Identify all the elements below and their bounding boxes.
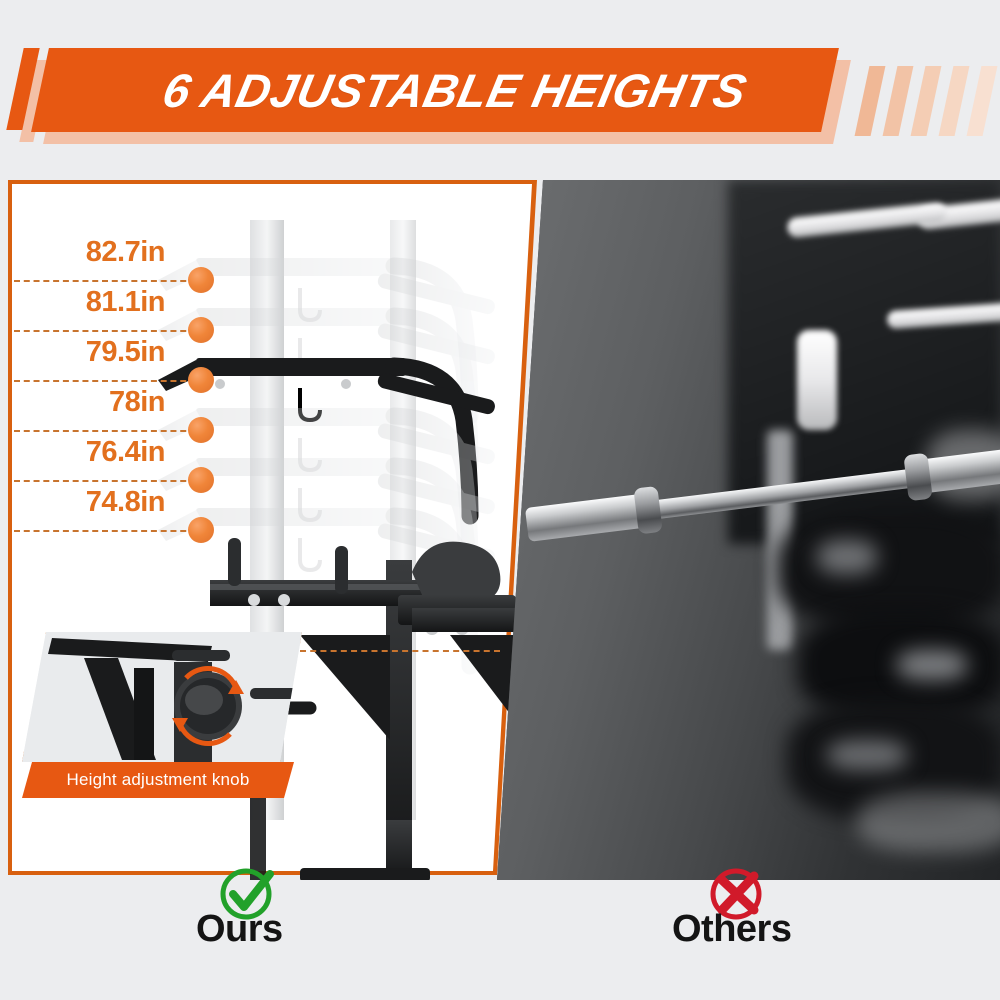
- height-marker-dot-1[interactable]: [188, 267, 214, 293]
- height-guide-line-2: [14, 330, 196, 332]
- knob-caption-text: Height adjustment knob: [66, 770, 249, 790]
- background-pillar: [797, 330, 837, 430]
- knob-caption: Height adjustment knob: [22, 762, 294, 798]
- height-guide-line-1: [14, 280, 196, 282]
- others-label: Others: [672, 908, 791, 951]
- header-tick-2: [883, 66, 914, 136]
- height-guide-line-4: [14, 430, 196, 432]
- dumbbell-highlight-1: [817, 540, 877, 574]
- header-tick-5: [967, 66, 998, 136]
- height-marker-dot-4[interactable]: [188, 417, 214, 443]
- ours-label: Ours: [196, 908, 283, 951]
- height-guide-line-6: [14, 530, 196, 532]
- header-tick-3: [911, 66, 942, 136]
- dumbbell-highlight-2: [897, 650, 967, 680]
- header-tick-4: [939, 66, 970, 136]
- height-guide-line-3: [14, 380, 196, 382]
- height-marker-dot-5[interactable]: [188, 467, 214, 493]
- header-tick-1: [855, 66, 886, 136]
- knob-closeup-illustration: [22, 632, 302, 762]
- floor-blur: [857, 792, 1000, 852]
- dumbbell-highlight-3: [827, 740, 907, 770]
- height-marker-dot-3[interactable]: [188, 367, 214, 393]
- infographic-canvas: 6 ADJUSTABLE HEIGHTS: [0, 0, 1000, 1000]
- header-banner: 6 ADJUSTABLE HEIGHTS: [0, 38, 1000, 138]
- others-photo: [497, 180, 1000, 880]
- barbell-collar-left: [633, 486, 662, 535]
- height-guide-line-5: [14, 480, 196, 482]
- height-marker-dot-6[interactable]: [188, 517, 214, 543]
- knob-callout-line: [300, 650, 500, 652]
- knob-zoom-inset: [22, 632, 302, 762]
- page-title: 6 ADJUSTABLE HEIGHTS: [51, 48, 859, 132]
- barbell-sleeve-left: [525, 494, 648, 542]
- height-marker-dot-2[interactable]: [188, 317, 214, 343]
